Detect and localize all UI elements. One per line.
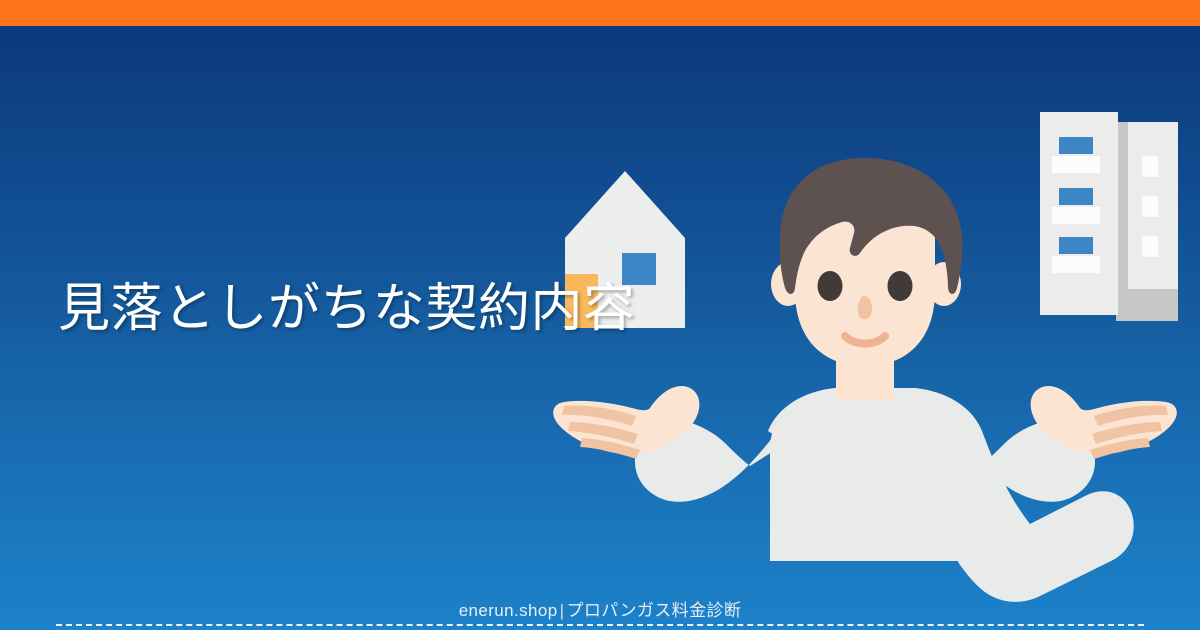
person-waist-shape bbox=[770, 541, 960, 561]
person-right-eye-shape bbox=[888, 271, 913, 301]
footer-branding: enerun.shop|プロパンガス料金診断 bbox=[0, 596, 1200, 621]
share-card-canvas: 見落としがちな契約内容 enerun.shop|プロパンガス料金診断 bbox=[0, 0, 1200, 630]
building-window-blue-shape bbox=[1059, 137, 1093, 154]
orange-accent-bar bbox=[0, 0, 1200, 26]
page-title: 見落としがちな契約内容 bbox=[58, 280, 678, 340]
footer-site-name: enerun.shop bbox=[459, 601, 558, 620]
shrugging-person-illustration bbox=[520, 156, 1200, 630]
footer-tagline: プロパンガス料金診断 bbox=[566, 601, 741, 620]
footer-dashed-divider bbox=[56, 624, 1144, 626]
person-left-eye-shape bbox=[818, 271, 843, 301]
person-torso-shape bbox=[770, 388, 960, 556]
card-background: 見落としがちな契約内容 enerun.shop|プロパンガス料金診断 bbox=[0, 26, 1200, 630]
